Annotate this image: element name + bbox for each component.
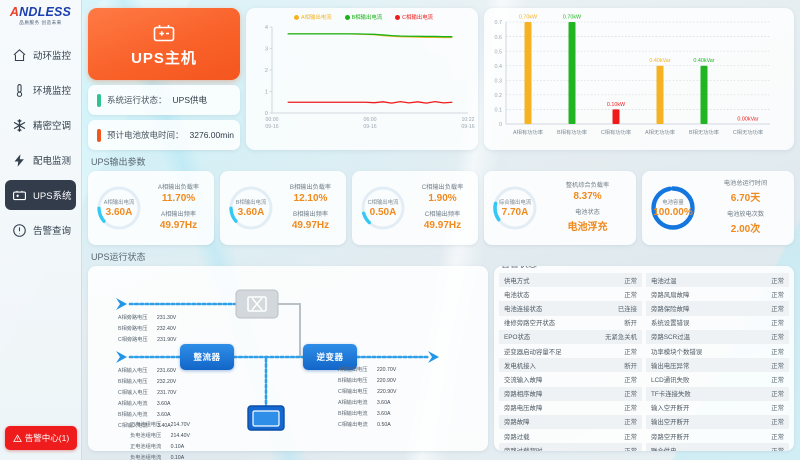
alarm-label: LCD通讯失败 [651,375,689,384]
alarm-status: 正常 [771,304,784,313]
battery-icon [12,188,27,203]
alarm-row: 输出电压异常正常 [646,358,789,372]
svg-text:C相无功功率: C相无功功率 [733,128,764,136]
svg-text:0.70kW: 0.70kW [563,15,582,21]
ring-label: 电池容量 [662,198,684,206]
section-title-run-state: UPS运行状态 [91,250,794,263]
diagram-metric-label: 正电池组电压 [130,422,161,428]
svg-text:0.6: 0.6 [495,35,503,41]
alarm-row: 旁路相序故障正常 [499,387,642,401]
bolt-icon [12,153,27,168]
alarm-status: 正常 [624,290,637,299]
alarm-row: 功率模块个数错误正常 [646,344,789,358]
svg-text:4: 4 [265,25,268,31]
battery-time-value: 3276.00min [190,130,234,140]
metric-value: 1.90% [428,193,456,204]
metric-value: 2.00次 [731,220,760,235]
inverter-label: 逆变器 [316,351,343,363]
diagram-metric-value: 232.20V [157,379,176,385]
alarm-status: 正常 [624,403,637,412]
svg-text:09-16: 09-16 [461,124,474,130]
system-status-card: 系统运行状态： UPS供电 [88,85,240,115]
section-title-output-params: UPS输出参数 [91,155,794,168]
top-row: UPS主机 系统运行状态： UPS供电 预计电池放电时间： 3276.00min… [88,8,794,150]
diagram-metric-value: 232.40V [157,326,176,332]
brand-name: ANDLESS [0,6,81,19]
diagram-metric-label: 正电池组电流 [130,444,161,450]
alarm-row: 旁路空开断开正常 [646,429,789,443]
svg-text:10:22: 10:22 [462,117,475,123]
diagram-metric-label: 负电池组电压 [130,433,161,439]
alarm-label: 交流输入故障 [504,375,542,384]
ring-text: 电池容量 100.00% [648,183,698,233]
diagram-metric-row: A相输出电压 220.70V [338,366,396,373]
diagram-metric-row: B相输入电压 232.20V [118,378,176,385]
alarm-label: 旁路过载超时 [504,446,542,451]
alarm-row: 旁路保险故障正常 [646,301,789,315]
alarm-label: 输出空开断开 [651,417,689,426]
alarm-status: 正常 [771,417,784,426]
alarm-status: 无紧急关机 [605,332,637,341]
ring-text: A相输出电流 3.60A [94,183,144,233]
alarm-row: 供电方式正常 [499,273,642,287]
ring-text: B相输出电流 3.60A [226,183,276,233]
alarm-label: 逆变器启动容量不足 [504,347,562,356]
alarm-status: 正常 [771,361,784,370]
battery-card: 电池容量 100.00% 电池总运行时间 6.70天 电池放电次数 2.00次 [642,171,794,245]
diagram-metric-value: 214.40V [171,433,190,439]
svg-text:09-16: 09-16 [363,124,376,130]
diagram-metric-value: 220.90V [377,389,396,395]
diagram-metric-value: 3.60A [157,401,171,407]
legend-item[interactable]: C相输出电流 [392,13,433,21]
legend-dot [395,15,400,20]
section-title-alarm-state: 告警状态 [501,266,789,270]
alarm-status: 正常 [624,276,637,285]
diagram-metric-row: A相输入电流 3.60A [118,400,170,407]
status-pill [97,94,101,107]
current-trend-chart: A相输出电流 B相输出电流 C相输出电流 0123400:0009-1606:0… [246,8,478,150]
legend-item[interactable]: B相输出电流 [342,13,383,21]
battery-metrics: 电池总运行时间 6.70天 电池放电次数 2.00次 [703,178,788,238]
ups-battery-icon [151,21,177,45]
ups-host-column: UPS主机 系统运行状态： UPS供电 预计电池放电时间： 3276.00min [88,8,240,150]
alarm-status: 正常 [624,347,637,356]
alarm-status: 正常 [771,332,784,341]
alarm-status: 正常 [771,432,784,441]
alarm-status: 正常 [771,389,784,398]
alarm-label: 旁路风扇故障 [651,290,689,299]
sidebar-label: 动环监控 [33,48,71,62]
metric-value: 12.10% [294,193,328,204]
ring-value: 3.60A [238,207,265,218]
alarm-center-label: 告警中心(1) [25,432,69,444]
metric-value: 11.70% [162,193,195,204]
sidebar: ANDLESS 品质服务 创造未来 动环监控 环境监控 精密空调 配电监测 UP… [0,0,82,460]
diagram-metric-row: C相输入电压 231.70V [118,389,176,396]
alarm-row: 电池连接状态已连接 [499,301,642,315]
alarm-status: 正常 [624,446,637,451]
phase-metrics: A相输出负载率 11.70% A相输出频率 49.97Hz [149,182,208,234]
sidebar-item-dong-huan[interactable]: 动环监控 [5,40,76,70]
diagram-metric-row: 负电池组电压 214.40V [130,432,190,439]
ring-value: 3.60A [106,207,133,218]
brand-name-accent: A [10,5,19,19]
metric-label: C相输出频率 [425,209,460,218]
alarm-status: 正常 [624,389,637,398]
diagram-metric-row: 正电池组电压 214.70V [130,421,190,428]
diagram-metric-row: A相输入电压 231.60V [118,367,176,374]
alarm-label: 旁路电压故障 [504,403,542,412]
alarm-label: 发电机接入 [504,361,536,370]
diagram-metric-value: 220.90V [377,378,396,384]
diagram-metric-row: 负电池组电流 0.10A [130,454,184,460]
ring-gauge: B相输出电流 3.60A [226,183,276,233]
metric-label: 整机综合负载率 [566,180,609,189]
phase-card-a: A相输出电流 3.60A A相输出负载率 11.70% A相输出频率 49.97… [88,171,214,245]
alarm-status: 正常 [624,375,637,384]
svg-text:0.5: 0.5 [495,49,503,55]
alarm-row: 电池过温正常 [646,273,789,287]
diagram-metric-label: B相输入电压 [118,379,147,385]
diagram-metric-value: 3.60A [377,400,391,406]
svg-text:00:00: 00:00 [266,117,279,123]
sidebar-label: UPS系统 [33,188,72,202]
diagram-metric-label: C相旁路电压 [118,337,148,343]
alarm-status: 正常 [771,375,784,384]
sidebar-item-env[interactable]: 环境监控 [5,75,76,105]
diagram-metric-row: C相输出电流 0.50A [338,421,391,428]
phase-card-c: C相输出电流 0.50A C相输出负载率 1.90% C相输出频率 49.97H… [352,171,478,245]
alarm-label: 旁路SCR过温 [651,332,690,341]
phase-metrics: C相输出负载率 1.90% C相输出频率 49.97Hz [413,182,472,234]
metric-label: C相输出负载率 [422,182,464,191]
alarm-status: 正常 [771,446,784,451]
svg-text:0.40kVar: 0.40kVar [649,58,670,64]
alarm-status: 已连接 [618,304,637,313]
diagram-metric-label: A相旁路电压 [118,315,147,321]
diagram-metric-row: B相输出电流 3.60A [338,410,390,417]
diagram-metric-value: 3.60A [157,412,171,418]
alarm-label: EPO状态 [504,332,530,341]
diagram-metric-row: A相输出电流 3.60A [338,399,390,406]
exclamation-circle-icon [12,223,27,238]
diagram-metric-value: 231.70V [157,390,176,396]
snowflake-icon [12,118,27,133]
home-icon [12,48,27,63]
metric-value: 6.70天 [731,189,760,204]
svg-text:1: 1 [265,90,268,96]
svg-text:0.3: 0.3 [495,78,503,84]
alarm-label: 旁路空开断开 [651,432,689,441]
alarm-row: 联合供电正常 [646,443,789,451]
ring-label: 综合输出电流 [499,198,531,206]
svg-text:A相有功功率: A相有功功率 [513,128,544,136]
svg-text:06:00: 06:00 [364,117,377,123]
diagram-metric-value: 0.10A [171,444,185,450]
sidebar-label: 配电监测 [33,153,71,167]
svg-text:B相无功功率: B相无功功率 [689,128,720,136]
diagram-metric-value: 231.90V [157,337,176,343]
bar-plot: 00.10.20.30.40.50.60.70.70kWA相有功功率0.70kW… [484,8,778,150]
alarm-row: 输入空开断开正常 [646,401,789,415]
diagram-metric-label: A相输出电压 [338,367,367,373]
diagram-metric-value: 231.30V [157,315,176,321]
svg-text:0.10kW: 0.10kW [607,102,626,108]
svg-text:3: 3 [265,47,268,53]
alarm-row: 旁路过载超时正常 [499,443,642,451]
alarm-row: 旁路电压故障正常 [499,401,642,415]
alarm-row: 发电机接入断开 [499,358,642,372]
alarm-row: 交流输入故障正常 [499,372,642,386]
ring-gauge: A相输出电流 3.60A [94,183,144,233]
diagram-metric-row: B相输入电流 3.60A [118,411,170,418]
alarm-grid: 供电方式正常电池状态正常电池连接状态已连接维修旁路空开状态断开EPO状态无紧急关… [499,273,789,451]
ups-host-card[interactable]: UPS主机 [88,8,240,80]
svg-text:0.4: 0.4 [495,64,503,70]
legend-dot [345,15,350,20]
sidebar-item-ups[interactable]: UPS系统 [5,180,76,210]
diagram-metric-label: B相输入电流 [118,412,147,418]
alarm-label: 系统设置错误 [651,318,689,327]
diagram-metric-value: 0.50A [377,422,391,428]
ring-label: A相输出电流 [104,198,135,206]
svg-text:0.2: 0.2 [495,93,503,99]
alarm-row: LCD通讯失败正常 [646,372,789,386]
rectifier-label: 整流器 [193,351,220,363]
alarm-row: 逆变器启动容量不足正常 [499,344,642,358]
diagram-metric-row: C相输出电压 220.90V [338,388,396,395]
alarm-row: 输出空开断开正常 [646,415,789,429]
alarm-row: 电池状态正常 [499,287,642,301]
metric-label: A相输出负载率 [158,182,199,191]
alarm-status: 正常 [771,276,784,285]
sidebar-item-ac[interactable]: 精密空调 [5,110,76,140]
diagram-metric-label: C相输入电压 [118,390,148,396]
ring-gauge: 综合输出电流 7.70A [490,183,540,233]
alarm-column-left: 供电方式正常电池状态正常电池连接状态已连接维修旁路空开状态断开EPO状态无紧急关… [499,273,642,451]
metric-label: 电池放电次数 [727,209,764,218]
svg-text:C相有功功率: C相有功功率 [601,128,632,136]
diagram-metric-row: 正电池组电流 0.10A [130,443,184,450]
diagram-metric-value: 3.60A [377,411,391,417]
legend-item[interactable]: A相输出电流 [291,13,332,21]
warning-triangle-icon [13,434,22,443]
diagram-metric-label: A相输入电流 [118,401,147,407]
ring-text: 综合输出电流 7.70A [490,183,540,233]
alarm-center-button[interactable]: 告警中心(1) [5,426,77,450]
legend-label: A相输出电流 [301,13,332,21]
diagram-metric-label: B相输出电流 [338,411,367,417]
alarm-row: 旁路故障正常 [499,415,642,429]
system-status-value: UPS供电 [173,94,207,106]
ring-label: C相输出电流 [368,198,399,206]
svg-text:0: 0 [499,122,502,128]
alarm-label: 电池连接状态 [504,304,542,313]
svg-text:0.70kW: 0.70kW [519,15,538,21]
alarm-label: 旁路过载 [504,432,530,441]
metric-value: 8.37% [573,191,601,202]
metric-value: 电池浮充 [568,218,608,233]
alarm-row: 旁路风扇故障正常 [646,287,789,301]
svg-text:B相有功功率: B相有功功率 [557,128,588,136]
metric-label: A相输出频率 [161,209,196,218]
alarm-status: 正常 [624,417,637,426]
alarm-status: 正常 [771,403,784,412]
phase-metrics: B相输出负载率 12.10% B相输出频率 49.97Hz [281,182,340,234]
alarm-status: 正常 [771,290,784,299]
brand-logo: ANDLESS 品质服务 创造未来 [0,0,81,28]
alarm-status: 正常 [771,347,784,356]
svg-text:0.1: 0.1 [495,108,503,114]
metric-label: B相输出频率 [293,209,328,218]
legend-label: C相输出电流 [402,13,433,21]
alarm-label: 旁路保险故障 [651,304,689,313]
metric-value: 49.97Hz [424,220,461,231]
battery-pill [97,129,101,142]
diagram-metric-value: 0.10A [171,455,185,460]
power-bar-chart: 00.10.20.30.40.50.60.70.70kWA相有功功率0.70kW… [484,8,794,150]
diagram-metric-label: C相输出电流 [338,422,368,428]
diagram-metric-row: B相输出电压 220.90V [338,377,396,384]
rectifier-box[interactable]: 整流器 [180,344,234,370]
ups-host-title: UPS主机 [131,47,197,68]
alarm-label: 供电方式 [504,276,530,285]
battery-ring-gauge: 电池容量 100.00% [648,183,698,233]
alarm-column-right: 电池过温正常旁路风扇故障正常旁路保险故障正常系统设置错误正常旁路SCR过温正常功… [646,273,789,451]
sidebar-label: 环境监控 [33,83,71,97]
alarm-row: 系统设置错误正常 [646,316,789,330]
chart-legend: A相输出电流 B相输出电流 C相输出电流 [246,8,478,21]
alarm-label: 功率模块个数错误 [651,347,702,356]
sidebar-item-alarm-query[interactable]: 告警查询 [5,215,76,245]
svg-text:A相无功功率: A相无功功率 [645,128,676,136]
svg-text:09-16: 09-16 [265,124,278,130]
sidebar-nav: 动环监控 环境监控 精密空调 配电监测 UPS系统 告警查询 [0,40,81,245]
battery-time-card: 预计电池放电时间： 3276.00min [88,120,240,150]
ring-value: 100.00% [653,207,692,218]
alarm-status: 断开 [624,318,637,327]
alarm-row: 旁路过载正常 [499,429,642,443]
metric-value: 49.97Hz [160,220,197,231]
phase-card-b: B相输出电流 3.60A B相输出负载率 12.10% B相输出频率 49.97… [220,171,346,245]
alarm-row: 维修旁路空开状态断开 [499,316,642,330]
main-content: UPS主机 系统运行状态： UPS供电 预计电池放电时间： 3276.00min… [82,0,800,460]
sidebar-item-power[interactable]: 配电监测 [5,145,76,175]
alarm-label: 旁路相序故障 [504,389,542,398]
legend-dot [294,15,299,20]
brand-tagline: 品质服务 创造未来 [0,20,81,26]
diagram-metric-label: A相输入电压 [118,368,147,374]
battery-time-label: 预计电池放电时间： [107,129,184,141]
diagram-metric-row: A相旁路电压 231.30V [118,314,176,321]
output-params-row: A相输出电流 3.60A A相输出负载率 11.70% A相输出频率 49.97… [88,171,794,245]
alarm-status: 断开 [624,361,637,370]
diagram-metric-label: B相输出电压 [338,378,367,384]
svg-text:2: 2 [265,68,268,74]
ring-label: B相输出电流 [236,198,267,206]
ups-flow-diagram: 整流器 逆变器 A相旁路电压 231.30V B相旁路电压 232.40V C相… [88,266,488,451]
brand-name-rest: NDLESS [19,5,71,19]
diagram-metric-value: 220.70V [377,367,396,373]
diagram-metric-value: 231.60V [157,368,176,374]
alarm-row: EPO状态无紧急关机 [499,330,642,344]
diagram-metric-row: C相旁路电压 231.90V [118,336,176,343]
alarm-label: 维修旁路空开状态 [504,318,555,327]
metric-label: 电池总运行时间 [724,178,767,187]
summary-card: 综合输出电流 7.70A 整机综合负载率 8.37% 电池状态 电池浮充 [484,171,636,245]
ring-value: 7.70A [502,207,529,218]
bottom-row: 整流器 逆变器 A相旁路电压 231.30V B相旁路电压 232.40V C相… [88,266,794,451]
alarm-row: 旁路SCR过温正常 [646,330,789,344]
alarm-status: 正常 [771,318,784,327]
line-plot: 0123400:0009-1606:0009-1610:2209-16 [246,21,478,139]
metric-label: B相输出负载率 [290,182,331,191]
svg-text:0.40kVar: 0.40kVar [693,58,714,64]
alarm-label: 电池过温 [651,276,677,285]
thermometer-icon [12,83,27,98]
diagram-metric-label: C相输出电压 [338,389,368,395]
alarm-label: 电池状态 [504,290,530,299]
alarm-status-panel: 告警状态 供电方式正常电池状态正常电池连接状态已连接维修旁路空开状态断开EPO状… [494,266,794,451]
diagram-metric-label: 负电池组电流 [130,455,161,460]
svg-text:0.00kVar: 0.00kVar [737,117,758,123]
alarm-label: 联合供电 [651,446,677,451]
metric-value: 49.97Hz [292,220,329,231]
alarm-row: TF卡连接失败正常 [646,387,789,401]
diagram-metric-row: B相旁路电压 232.40V [118,325,176,332]
diagram-metric-label: A相输出电流 [338,400,367,406]
summary-metrics: 整机综合负载率 8.37% 电池状态 电池浮充 [545,180,630,236]
ring-value: 0.50A [370,207,397,218]
diagram-metric-value: 214.70V [171,422,190,428]
alarm-label: 输入空开断开 [651,403,689,412]
alarm-label: 旁路故障 [504,417,530,426]
system-status-label: 系统运行状态： [107,94,167,106]
alarm-status: 正常 [624,432,637,441]
diagram-metric-label: B相旁路电压 [118,326,147,332]
ring-gauge: C相输出电流 0.50A [358,183,408,233]
svg-text:0.7: 0.7 [495,20,503,26]
legend-label: B相输出电流 [352,13,383,21]
metric-label: 电池状态 [575,207,600,216]
sidebar-label: 告警查询 [33,223,71,237]
sidebar-label: 精密空调 [33,118,71,132]
alarm-label: TF卡连接失败 [651,389,691,398]
alarm-label: 输出电压异常 [651,361,689,370]
ring-text: C相输出电流 0.50A [358,183,408,233]
